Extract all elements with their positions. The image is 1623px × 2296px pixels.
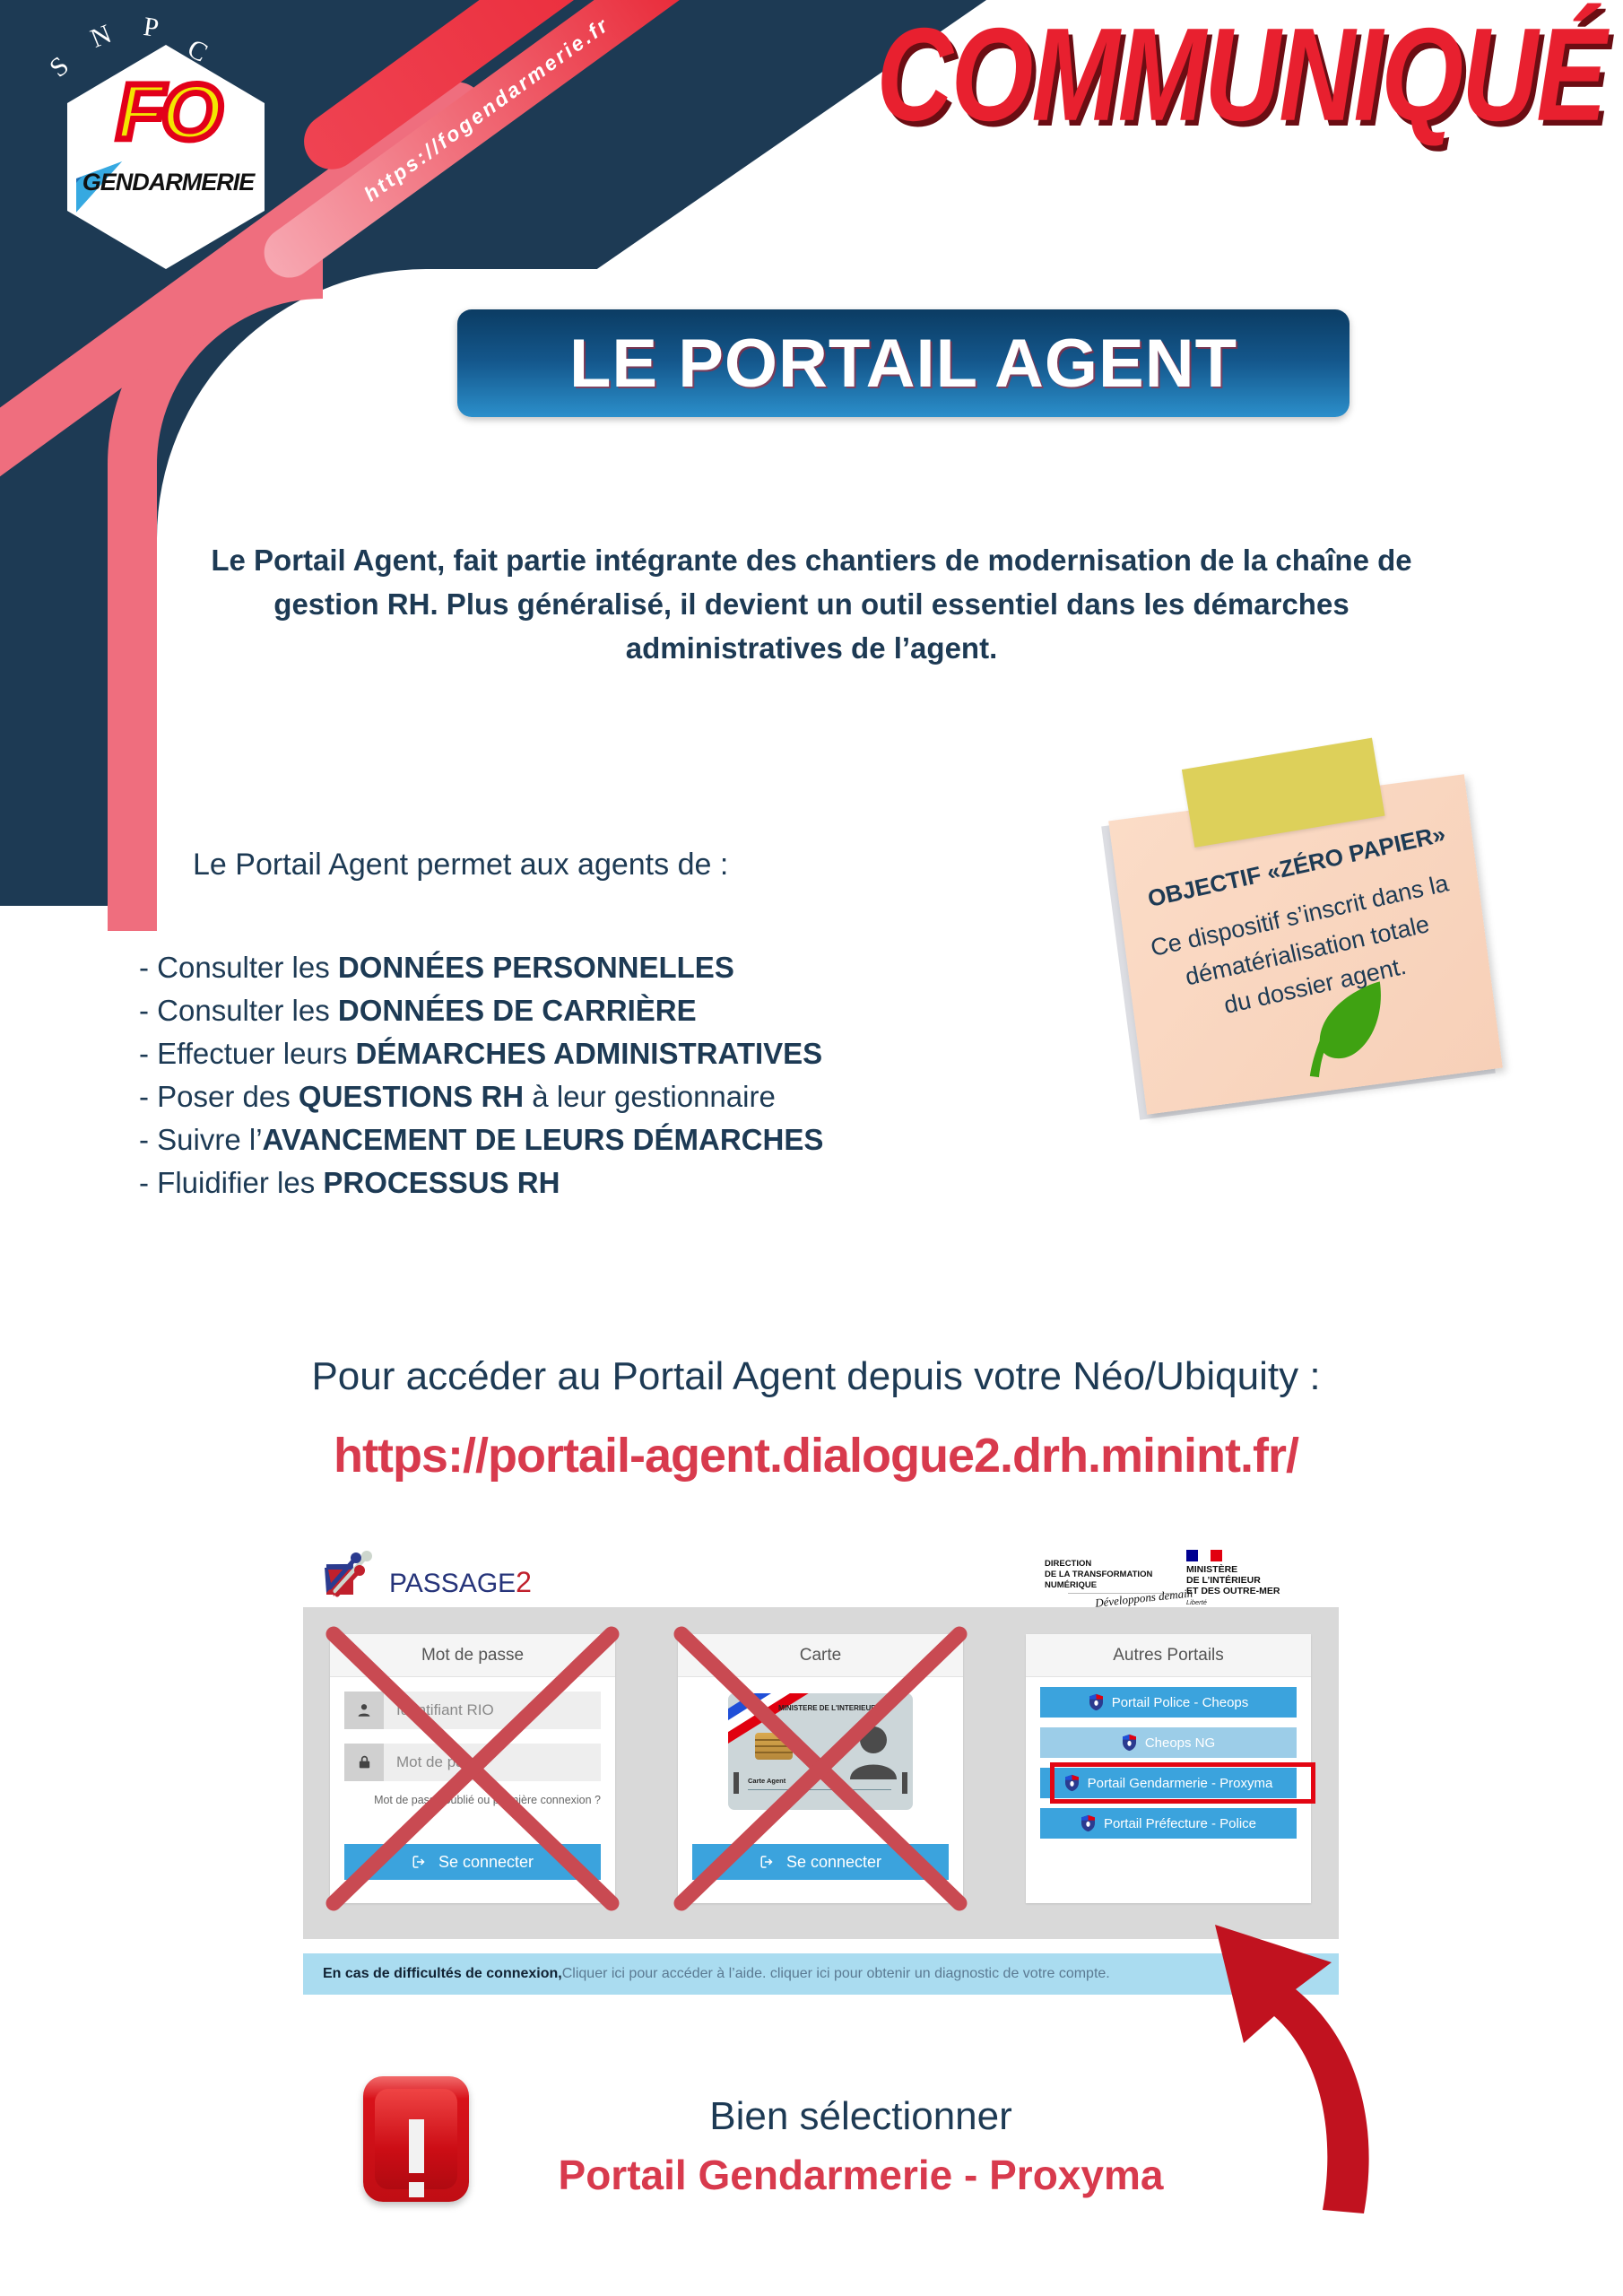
portal-button-label: Portail Gendarmerie - Proxyma [1088, 1776, 1273, 1791]
shield-icon [1122, 1734, 1137, 1752]
feature-item-0: - Consulter les DONNÉES PERSONNELLES [139, 946, 1054, 989]
card-tab-left [733, 1772, 739, 1794]
page-title: LE PORTAIL AGENT [569, 325, 1237, 403]
shield-icon [1081, 1814, 1096, 1832]
feature-strong: DONNÉES PERSONNELLES [338, 951, 734, 984]
help-bar-links[interactable]: Cliquer ici pour accéder à l’aide. cliqu… [562, 1966, 1110, 1982]
feature-prefix: - Suivre l’ [139, 1123, 263, 1156]
portal-button-3[interactable]: Portail Préfecture - Police [1040, 1808, 1297, 1839]
feature-strong: DONNÉES DE CARRIÈRE [338, 994, 697, 1027]
poster-page: https://fogendarmerie.fr S N P C FO GEND… [0, 0, 1623, 2296]
login-panel-password: Mot de passe Identifiant RIO Mot de pass… [330, 1634, 615, 1903]
login-icon [759, 1854, 776, 1870]
password-submit-button[interactable]: Se connecter [344, 1844, 601, 1880]
feature-item-5: - Fluidifier les PROCESSUS RH [139, 1161, 1054, 1205]
logo-letter-n: N [86, 19, 116, 55]
ministry-line-1: MINISTÈRE [1186, 1564, 1323, 1575]
feature-prefix: - Effectuer leurs [139, 1037, 356, 1070]
portal-button-label: Portail Police - Cheops [1112, 1695, 1249, 1710]
card-panel-title: Carte [678, 1634, 963, 1677]
password-placeholder: Mot de passe [384, 1753, 488, 1771]
card-issuer-text: MINISTERE DE L'INTERIEUR [778, 1704, 876, 1712]
ministry-line-3: ET DES OUTRE-MER [1186, 1586, 1323, 1596]
communique-title: COMMUNIQUÉ [690, 0, 1605, 170]
help-bar: En cas de difficultés de connexion, Cliq… [303, 1953, 1339, 1995]
page-title-banner: LE PORTAIL AGENT [457, 309, 1350, 417]
logo-letter-p: P [142, 12, 161, 44]
forgot-password-link[interactable]: Mot de passe oublié ou première connexio… [330, 1794, 601, 1806]
dtn-logo: DIRECTION DE LA TRANSFORMATION NUMÉRIQUE [1045, 1559, 1177, 1591]
ministry-line-2: DE L’INTÉRIEUR [1186, 1575, 1323, 1586]
feature-prefix: - Poser des [139, 1080, 299, 1113]
features-list: - Consulter les DONNÉES PERSONNELLES- Co… [139, 946, 1054, 1205]
feature-item-2: - Effectuer leurs DÉMARCHES ADMINISTRATI… [139, 1032, 1054, 1075]
feature-suffix: à leur gestionnaire [524, 1080, 776, 1113]
exclamation-dot [409, 2182, 424, 2197]
portal-button-1[interactable]: Cheops NG [1040, 1727, 1297, 1758]
agent-card-image: MINISTERE DE L'INTERIEUR Carte Agent [728, 1693, 913, 1810]
password-submit-label: Se connecter [438, 1853, 534, 1872]
feature-prefix: - Consulter les [139, 994, 338, 1027]
screenshot-body: Mot de passe Identifiant RIO Mot de pass… [303, 1607, 1339, 1939]
feature-item-4: - Suivre l’AVANCEMENT DE LEURS DÉMARCHES [139, 1118, 1054, 1161]
devise-liberte: Liberté [1186, 1599, 1323, 1607]
card-tab-right [902, 1772, 907, 1794]
fo-gendarmerie-logo: S N P C FO GENDARMERIE [27, 9, 287, 278]
card-submit-button[interactable]: Se connecter [692, 1844, 949, 1880]
help-bar-strong: En cas de difficultés de connexion, [323, 1966, 562, 1982]
login-icon [412, 1854, 428, 1870]
sticky-note: OBJECTIF «ZÉRO PAPIER» Ce dispositif s’i… [1112, 789, 1533, 1157]
card-photo-icon [848, 1724, 898, 1779]
screenshot-header: PASSAGE2 DIRECTION DE LA TRANSFORMATION … [303, 1535, 1339, 1607]
access-instruction: Pour accéder au Portail Agent depuis vot… [94, 1354, 1538, 1399]
feature-strong: DÉMARCHES ADMINISTRATIVES [356, 1037, 823, 1070]
shield-icon [1064, 1774, 1080, 1792]
portal-button-0[interactable]: Portail Police - Cheops [1040, 1687, 1297, 1718]
ministry-logos: DIRECTION DE LA TRANSFORMATION NUMÉRIQUE… [1045, 1546, 1323, 1602]
callout-line-2: Portail Gendarmerie - Proxyma [502, 2151, 1219, 2199]
rio-field[interactable]: Identifiant RIO [344, 1692, 601, 1729]
feature-item-3: - Poser des QUESTIONS RH à leur gestionn… [139, 1075, 1054, 1118]
logo-fo-text: FO [82, 65, 253, 163]
lock-icon [344, 1744, 384, 1781]
card-line [748, 1789, 891, 1790]
feature-prefix: - Fluidifier les [139, 1166, 323, 1199]
french-flag-icon [1186, 1550, 1222, 1561]
card-chip-icon [755, 1733, 793, 1760]
dtn-line-1: DIRECTION [1045, 1559, 1177, 1570]
callout-line-1: Bien sélectionner [502, 2094, 1219, 2139]
feature-strong: AVANCEMENT DE LEURS DÉMARCHES [263, 1123, 824, 1156]
password-field[interactable]: Mot de passe [344, 1744, 601, 1781]
passage2-logo-text: PASSAGE2 [389, 1566, 532, 1599]
shield-icon [1089, 1693, 1104, 1711]
logo-letter-s: S [44, 51, 75, 84]
card-submit-label: Se connecter [786, 1853, 881, 1872]
sticky-note-paper: OBJECTIF «ZÉRO PAPIER» Ce dispositif s’i… [1108, 774, 1503, 1114]
login-screenshot: PASSAGE2 DIRECTION DE LA TRANSFORMATION … [303, 1535, 1339, 2011]
exclamation-icon-inner [375, 2089, 457, 2189]
feature-strong: QUESTIONS RH [299, 1080, 524, 1113]
exclamation-bar [409, 2119, 424, 2173]
screenshot-footer: En cas de difficultés de connexion, Cliq… [303, 1939, 1339, 2011]
dtn-line-2: DE LA TRANSFORMATION [1045, 1570, 1177, 1580]
portal-list: Portail Police - CheopsCheops NGPortail … [1026, 1687, 1311, 1839]
portal-button-2[interactable]: Portail Gendarmerie - Proxyma [1040, 1768, 1297, 1798]
password-panel-title: Mot de passe [330, 1634, 615, 1677]
card-label-text: Carte Agent [748, 1777, 785, 1785]
features-lead-in: Le Portail Agent permet aux agents de : [193, 848, 728, 883]
user-icon [344, 1692, 384, 1729]
exclamation-icon [363, 2076, 469, 2202]
rio-placeholder: Identifiant RIO [384, 1701, 494, 1719]
feature-item-1: - Consulter les DONNÉES DE CARRIÈRE [139, 989, 1054, 1032]
portal-button-label: Cheops NG [1145, 1735, 1215, 1751]
passage2-logo: PASSAGE2 [323, 1546, 529, 1602]
feature-prefix: - Consulter les [139, 951, 338, 984]
portal-button-label: Portail Préfecture - Police [1104, 1816, 1256, 1831]
feature-strong: PROCESSUS RH [323, 1166, 560, 1199]
login-panel-card: Carte MINISTERE DE L'INTERIEUR [678, 1634, 963, 1903]
intro-paragraph: Le Portail Agent, fait partie intégrante… [170, 538, 1453, 670]
portal-url[interactable]: https://portail-agent.dialogue2.drh.mini… [94, 1428, 1538, 1483]
logo-gendarmerie-text: GENDARMERIE [76, 169, 260, 196]
other-portals-title: Autres Portails [1026, 1634, 1311, 1677]
